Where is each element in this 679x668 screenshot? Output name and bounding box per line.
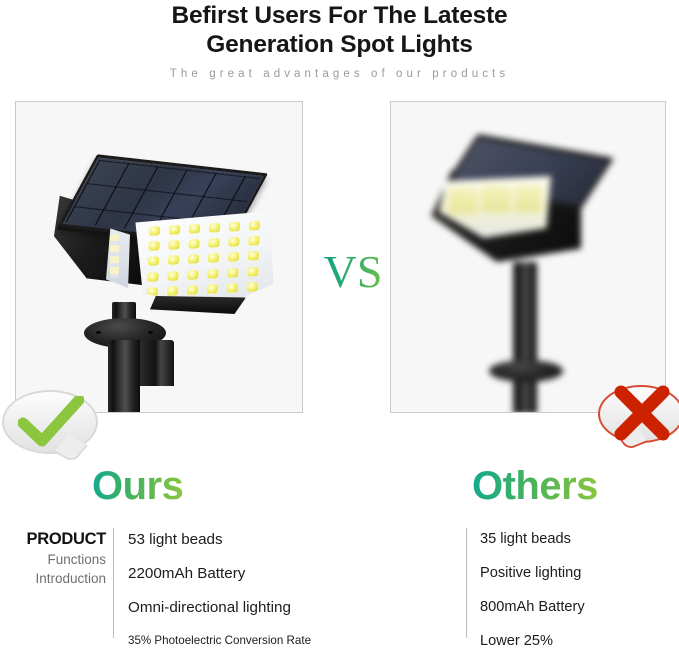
- led-bead: [227, 253, 238, 263]
- cob-led-strip: [481, 186, 511, 212]
- led-bead: [248, 236, 259, 246]
- spec-list-others: 35 light beads Positive lighting 800mAh …: [480, 532, 675, 668]
- led-bead: [207, 254, 218, 264]
- led-bead: [228, 222, 239, 232]
- lamp-neck: [140, 340, 174, 386]
- lamp-pole: [513, 262, 537, 413]
- led-bead: [226, 283, 237, 293]
- lamp-pole-lower: [108, 340, 140, 413]
- led-bead: [147, 272, 158, 282]
- spec-row-label-main: PRODUCT: [6, 530, 106, 549]
- lamp-head: [427, 146, 617, 276]
- lamp-mounting-flange: [489, 360, 563, 382]
- led-bead: [167, 256, 178, 266]
- led-bead: [146, 287, 157, 297]
- led-bead: [167, 271, 178, 281]
- spec-item: 2200mAh Battery: [128, 566, 448, 581]
- others-label: Others: [472, 466, 598, 506]
- vs-label: VS: [318, 249, 388, 295]
- spec-item: Lower 25%: [480, 634, 675, 649]
- others-product-illustration: [391, 102, 665, 412]
- led-bead: [248, 221, 259, 231]
- led-bead: [188, 224, 199, 234]
- cob-led-strip: [449, 188, 477, 214]
- led-bead: [246, 282, 257, 292]
- led-bead: [208, 238, 219, 248]
- spec-item: Omni-directional lighting: [128, 600, 448, 615]
- spec-row-label-sub: Functions Introduction: [6, 551, 106, 588]
- led-bead: [148, 226, 159, 236]
- green-check-badge: [2, 390, 98, 454]
- led-bead: [247, 252, 258, 262]
- spec-item: Positive lighting: [480, 566, 675, 581]
- spec-item: 35% Photoelectric Conversion Rate: [128, 635, 448, 647]
- led-bead: [168, 241, 179, 251]
- led-bead: [186, 285, 197, 295]
- header: Befirst Users For The Lateste Generation…: [0, 0, 679, 80]
- led-bead: [166, 286, 177, 296]
- led-bead: [148, 242, 159, 252]
- led-bead: [188, 239, 199, 249]
- lamp-lower-lip: [150, 296, 246, 314]
- led-bead: [187, 270, 198, 280]
- led-bead: [147, 257, 158, 267]
- ours-product-illustration: [16, 102, 302, 412]
- led-bead: [207, 269, 218, 279]
- ours-label: Ours: [92, 466, 183, 506]
- page-title: Befirst Users For The Lateste Generation…: [0, 0, 679, 59]
- led-bead: [206, 284, 217, 294]
- page-subtitle: The great advantages of our products: [0, 59, 679, 80]
- led-bead: [187, 255, 198, 265]
- led-bead: [208, 223, 219, 233]
- led-face-plate: [131, 209, 275, 309]
- spec-item: 800mAh Battery: [480, 600, 675, 615]
- spec-divider-left: [113, 528, 114, 638]
- check-icon: [18, 396, 84, 448]
- led-bead: [168, 225, 179, 235]
- led-bead: [227, 268, 238, 278]
- led-bead: [228, 237, 239, 247]
- spec-row-label: PRODUCT Functions Introduction: [6, 530, 106, 588]
- led-bead-grid: [143, 219, 263, 299]
- flange-screw: [148, 331, 153, 334]
- flange-screw: [96, 331, 101, 334]
- lamp-head: [54, 164, 272, 304]
- spec-list-ours: 53 light beads 2200mAh Battery Omni-dire…: [128, 532, 448, 646]
- spec-item: 35 light beads: [480, 532, 675, 547]
- product-image-panel-others: [390, 101, 666, 413]
- spec-divider-right: [466, 528, 467, 638]
- led-bead: [247, 267, 258, 277]
- close-icon: [612, 385, 672, 441]
- cob-led-strip: [515, 186, 541, 212]
- red-x-badge: [598, 385, 679, 443]
- spec-item: 53 light beads: [128, 532, 448, 547]
- product-image-panel-ours: [15, 101, 303, 413]
